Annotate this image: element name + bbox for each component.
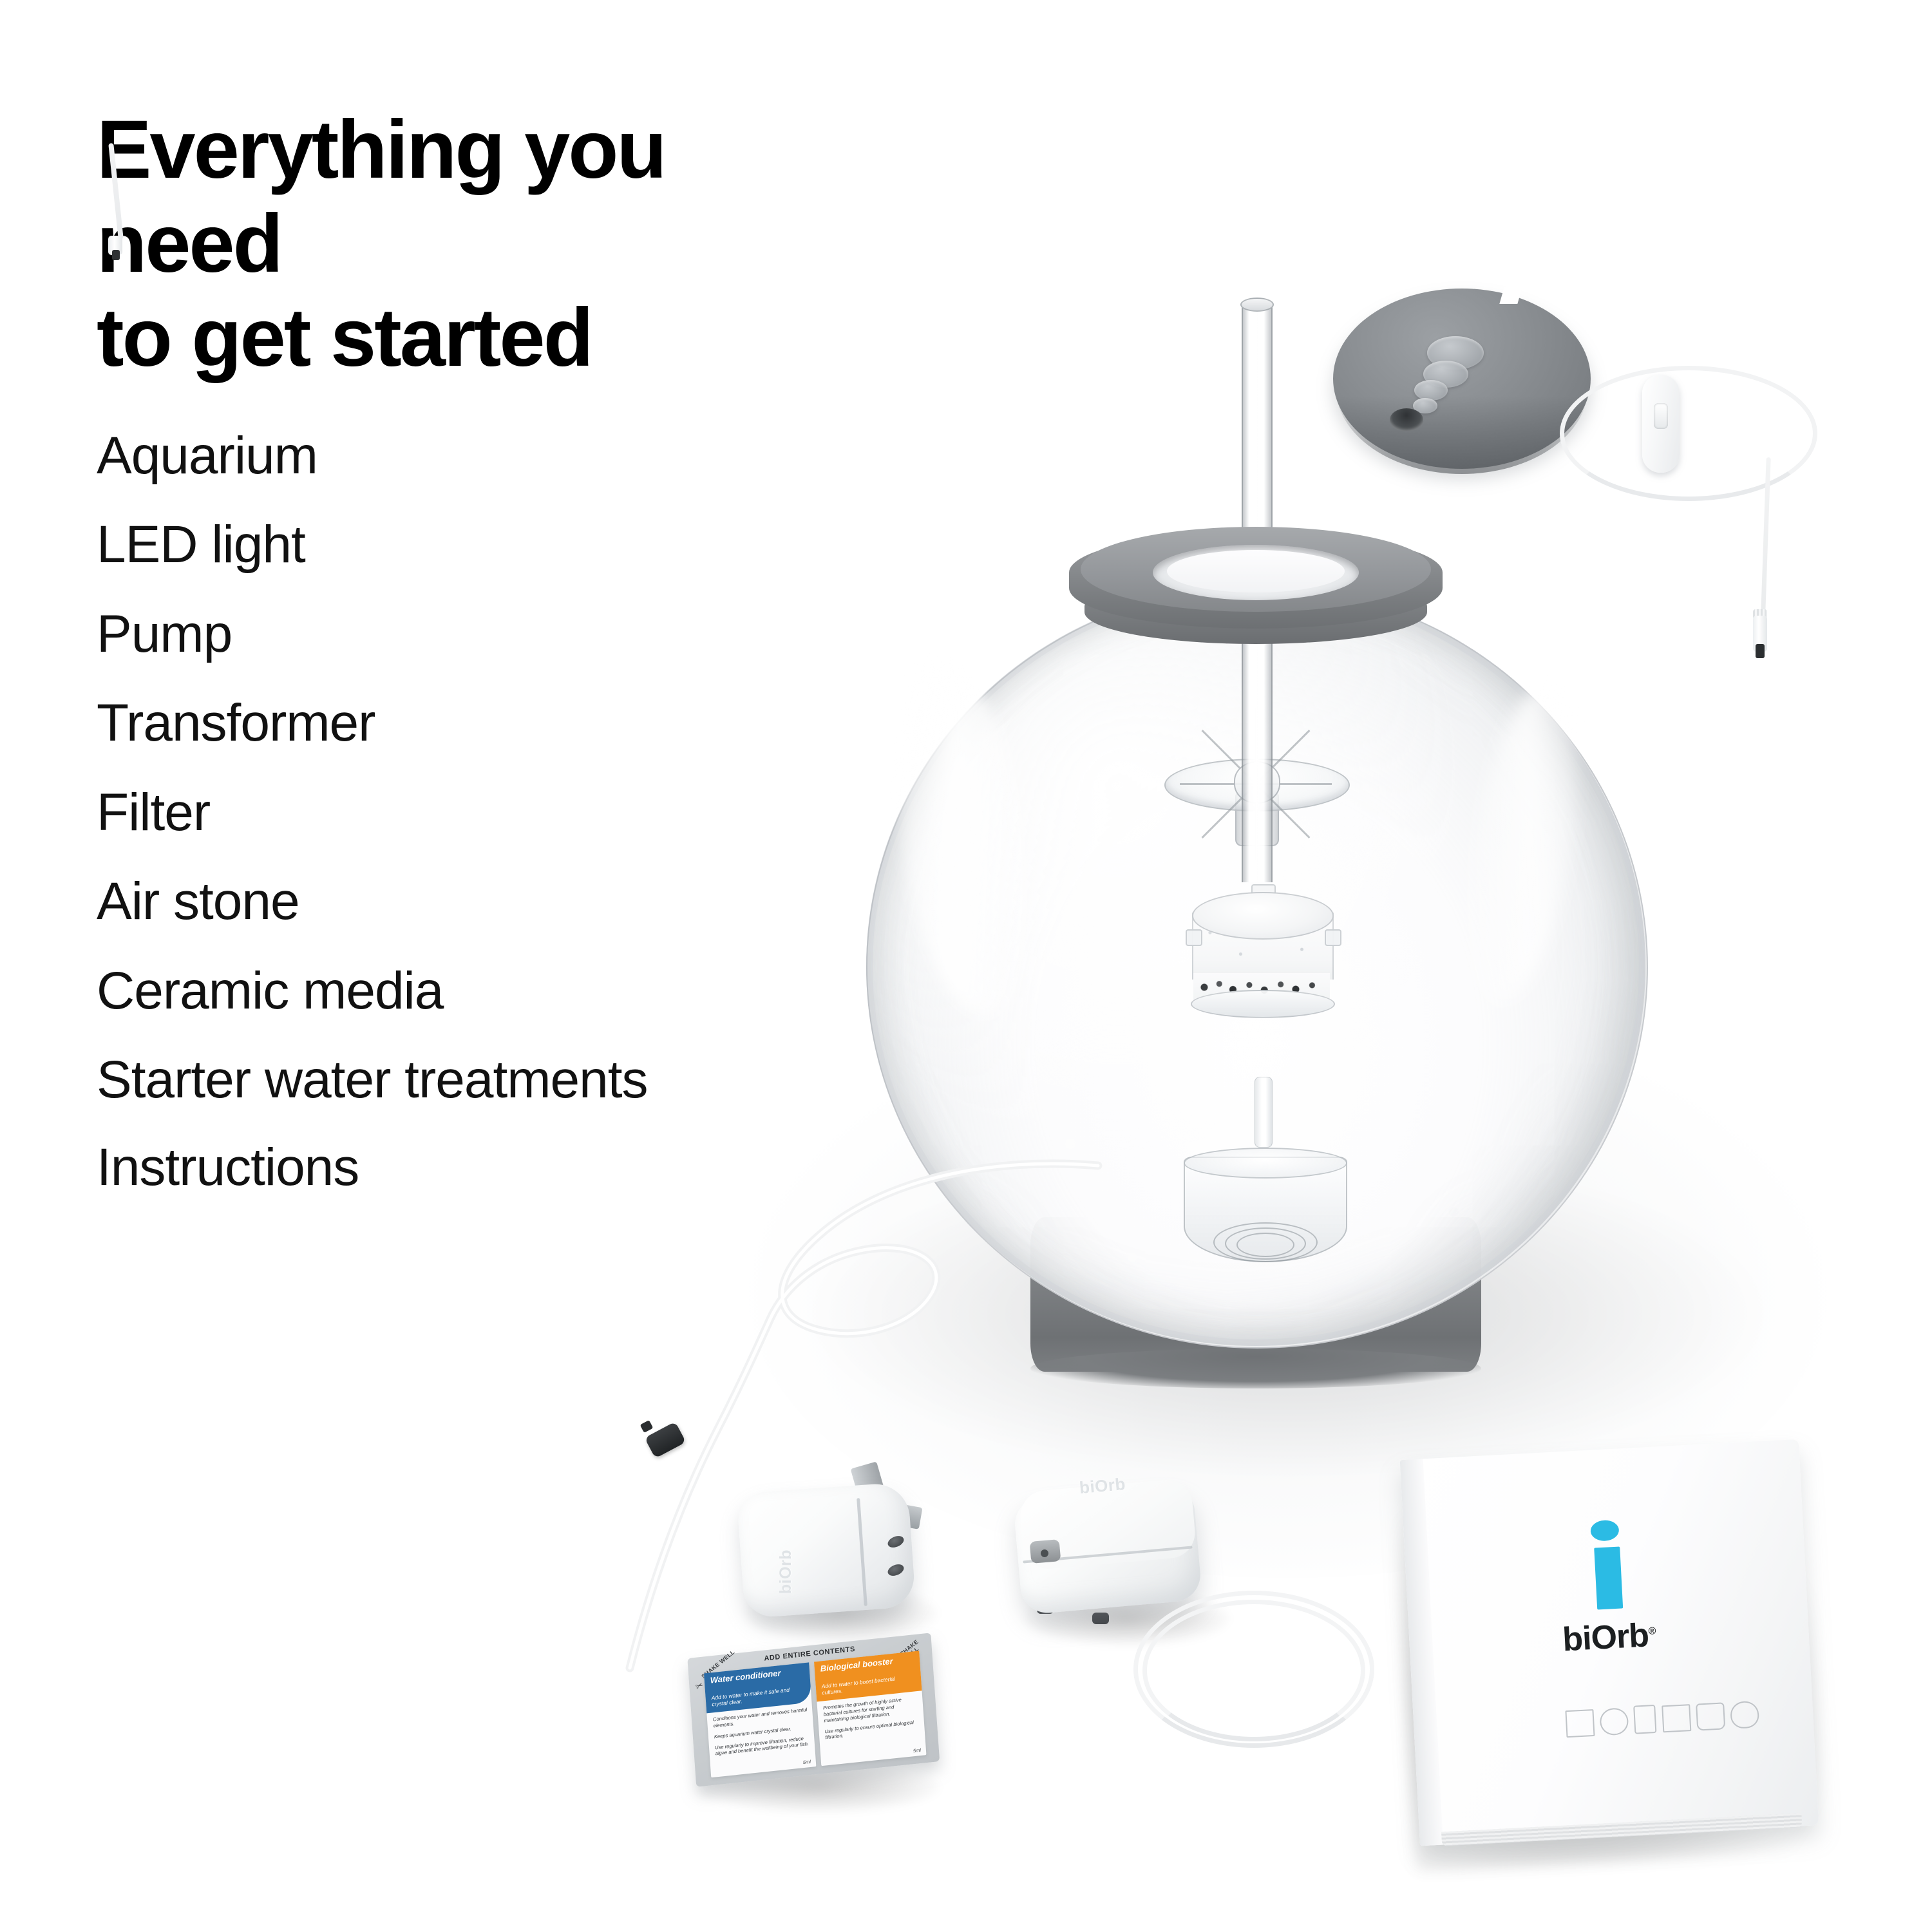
- dc-plug-tip: [1756, 644, 1765, 658]
- product-flow-icon: [1730, 1701, 1759, 1729]
- pump-cylinder-top: [1184, 1148, 1347, 1179]
- product-orb-icon: [1600, 1707, 1629, 1736]
- air-stone: [1255, 1077, 1273, 1148]
- starter-water-treatments: ADD ENTIRE CONTENTS SHAKE WELL SHAKE WEL…: [687, 1633, 942, 1819]
- collar-aperture-inner: [1167, 550, 1345, 592]
- filter-cartridge-tab-left: [1186, 929, 1202, 946]
- transformer-plug: biOrb: [741, 1481, 927, 1629]
- air-pump-nozzle-hole: [1041, 1549, 1048, 1557]
- airline-connector-tip: [112, 250, 120, 260]
- aquarium-lid-collar: [1069, 515, 1443, 647]
- airline-coil-inner: [1142, 1600, 1365, 1741]
- info-icon-stem: [1594, 1546, 1623, 1609]
- led-feeding-hole: [1390, 408, 1423, 431]
- biological-booster-panel: Biological booster Add to water to boost…: [814, 1651, 926, 1766]
- water-conditioner-panel: Water conditioner Add to water to make i…: [704, 1662, 816, 1777]
- filter-cartridge-lid: [1192, 892, 1334, 940]
- led-lens-3: [1414, 380, 1448, 401]
- instruction-booklet: biOrb®: [1400, 1439, 1833, 1872]
- biological-booster-body: Promotes the growth of highly active bac…: [823, 1695, 921, 1746]
- transformer-body: [737, 1482, 916, 1618]
- air-pump-brand-label: biOrb: [1079, 1474, 1126, 1498]
- product-cube-icon: [1662, 1704, 1691, 1732]
- product-scene: biOrb biOrb ADD ENTIRE CONTENTS SHAKE WE…: [0, 0, 1932, 1932]
- led-switch-rocker[interactable]: [1654, 403, 1668, 429]
- pump-housing: [1184, 1145, 1345, 1274]
- riser-tube-cap: [1240, 298, 1274, 312]
- water-conditioner-body: Conditions your water and removes harmfu…: [713, 1707, 811, 1762]
- product-tube-icon: [1634, 1705, 1657, 1734]
- air-pump-foot: [1092, 1613, 1109, 1624]
- water-conditioner-volume: 5ml: [803, 1759, 811, 1765]
- biological-booster-volume: 5ml: [913, 1747, 922, 1754]
- transformer-brand-label: biOrb: [777, 1549, 795, 1594]
- registered-mark: ®: [1648, 1625, 1656, 1637]
- product-cylinder-icon: [1696, 1702, 1725, 1730]
- booklet-brand-text: biOrb: [1562, 1616, 1650, 1658]
- filter-cartridge: [1188, 892, 1336, 1014]
- led-cable-loop: [1560, 366, 1817, 501]
- filter-cartridge-tab-right: [1325, 929, 1341, 946]
- coiled-airline: [1133, 1591, 1391, 1777]
- pump-ring: [1236, 1233, 1294, 1257]
- led-power-cable: [1546, 361, 1848, 638]
- filter-cartridge-base: [1191, 990, 1335, 1018]
- product-cube-icon: [1565, 1709, 1595, 1738]
- airline-free-end: [108, 143, 124, 240]
